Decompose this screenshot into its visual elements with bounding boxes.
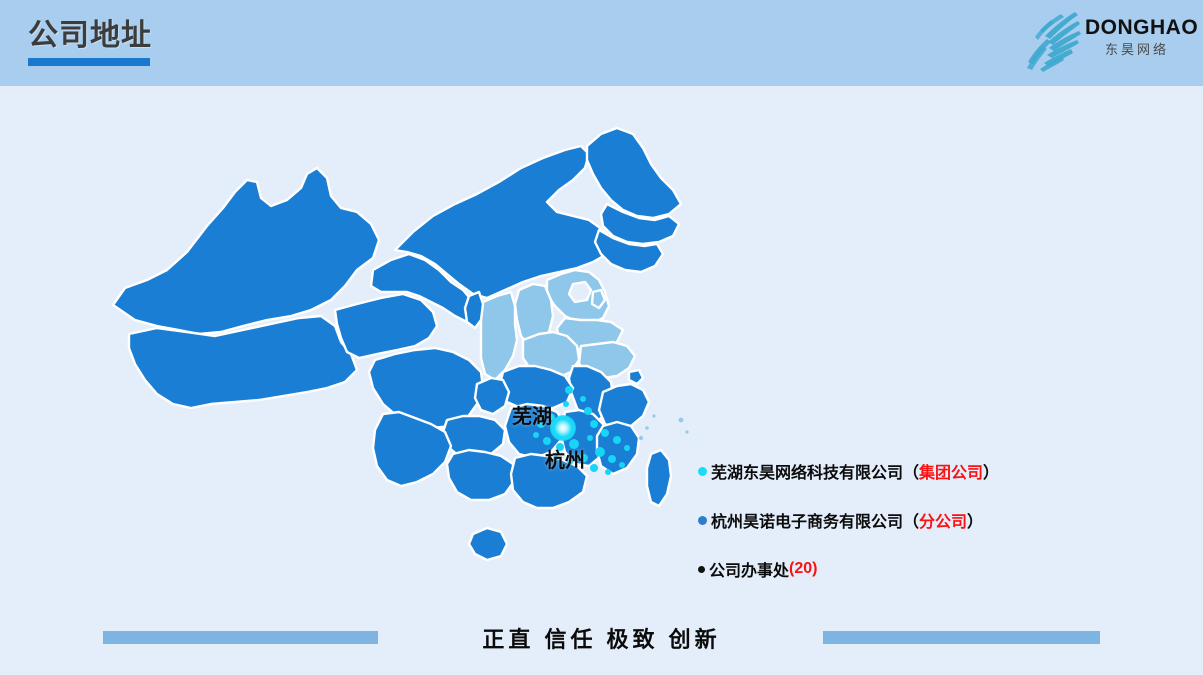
map-office-marker bbox=[605, 469, 611, 475]
map-office-marker bbox=[563, 401, 569, 407]
province-ningxia bbox=[465, 292, 483, 328]
map-office-marker bbox=[613, 436, 621, 444]
legend-bullet-cyan-icon bbox=[698, 467, 707, 476]
legend-paren-open-1: （ bbox=[903, 508, 919, 532]
slide-header: 公司地址 bbox=[0, 0, 1203, 86]
province-shaanxi bbox=[481, 292, 517, 380]
legend-label-branch-company: 杭州昊诺电子商务有限公司 bbox=[711, 508, 903, 532]
map-office-marker bbox=[587, 435, 593, 441]
map-headquarters-marker bbox=[550, 415, 576, 441]
brand-wordmark: DONGHAO 东昊网络 bbox=[1085, 16, 1189, 59]
legend-label-group-company: 芜湖东昊网络科技有限公司 bbox=[711, 459, 903, 483]
municipality-chongqing bbox=[475, 378, 509, 414]
legend-tag-group-company: 集团公司 bbox=[919, 459, 983, 483]
legend-paren-open-0: （ bbox=[903, 459, 919, 483]
map-office-marker bbox=[608, 455, 616, 463]
province-guangxi bbox=[447, 450, 515, 500]
municipality-shanghai bbox=[629, 370, 643, 384]
page-title: 公司地址 bbox=[28, 17, 152, 55]
map-legend: 芜湖东昊网络科技有限公司 （ 集团公司 ） 杭州昊诺电子商务有限公司 （ 分公司… bbox=[698, 459, 1118, 606]
legend-label-offices: 公司办事处 bbox=[709, 557, 789, 581]
title-underline bbox=[28, 58, 150, 66]
city-label-hangzhou: 杭州 bbox=[545, 444, 585, 473]
province-heilongjiang bbox=[587, 128, 681, 218]
brand-logo: DONGHAO 东昊网络 bbox=[1021, 6, 1191, 76]
page-title-group: 公司地址 bbox=[28, 17, 152, 66]
legend-item-group-company: 芜湖东昊网络科技有限公司 （ 集团公司 ） bbox=[698, 459, 1118, 483]
donghao-wing-icon bbox=[1021, 8, 1083, 74]
map-office-marker bbox=[619, 462, 625, 468]
legend-item-offices: 公司办事处 (20) bbox=[698, 557, 1118, 581]
china-map-svg bbox=[95, 120, 715, 610]
map-office-marker bbox=[565, 386, 573, 394]
legend-count-offices: (20) bbox=[789, 560, 817, 578]
legend-bullet-blue-icon bbox=[698, 516, 707, 525]
city-label-wuhu: 芜湖 bbox=[512, 400, 552, 429]
legend-item-branch-company: 杭州昊诺电子商务有限公司 （ 分公司 ） bbox=[698, 508, 1118, 532]
legend-paren-close-0: ） bbox=[983, 459, 999, 483]
map-office-marker bbox=[601, 429, 609, 437]
province-taiwan bbox=[647, 450, 671, 506]
slide-root: 公司地址 bbox=[0, 0, 1203, 675]
map-office-marker bbox=[584, 407, 592, 415]
footer-bar-right bbox=[823, 631, 1100, 644]
map-office-marker bbox=[580, 396, 586, 402]
map-office-marker bbox=[590, 464, 598, 472]
legend-bullet-black-icon bbox=[698, 566, 705, 573]
province-hainan bbox=[469, 528, 507, 560]
china-map bbox=[95, 120, 715, 610]
map-office-marker bbox=[590, 420, 598, 428]
municipality-beijing bbox=[569, 282, 591, 302]
legend-paren-close-1: ） bbox=[967, 508, 983, 532]
brand-name-en: DONGHAO bbox=[1085, 16, 1189, 40]
province-tibet bbox=[129, 316, 357, 408]
map-office-marker bbox=[624, 445, 630, 451]
map-office-marker bbox=[533, 432, 539, 438]
legend-tag-branch-company: 分公司 bbox=[919, 508, 967, 532]
brand-name-cn: 东昊网络 bbox=[1085, 41, 1189, 59]
offshore-islands bbox=[639, 414, 689, 440]
map-office-marker bbox=[595, 447, 605, 457]
